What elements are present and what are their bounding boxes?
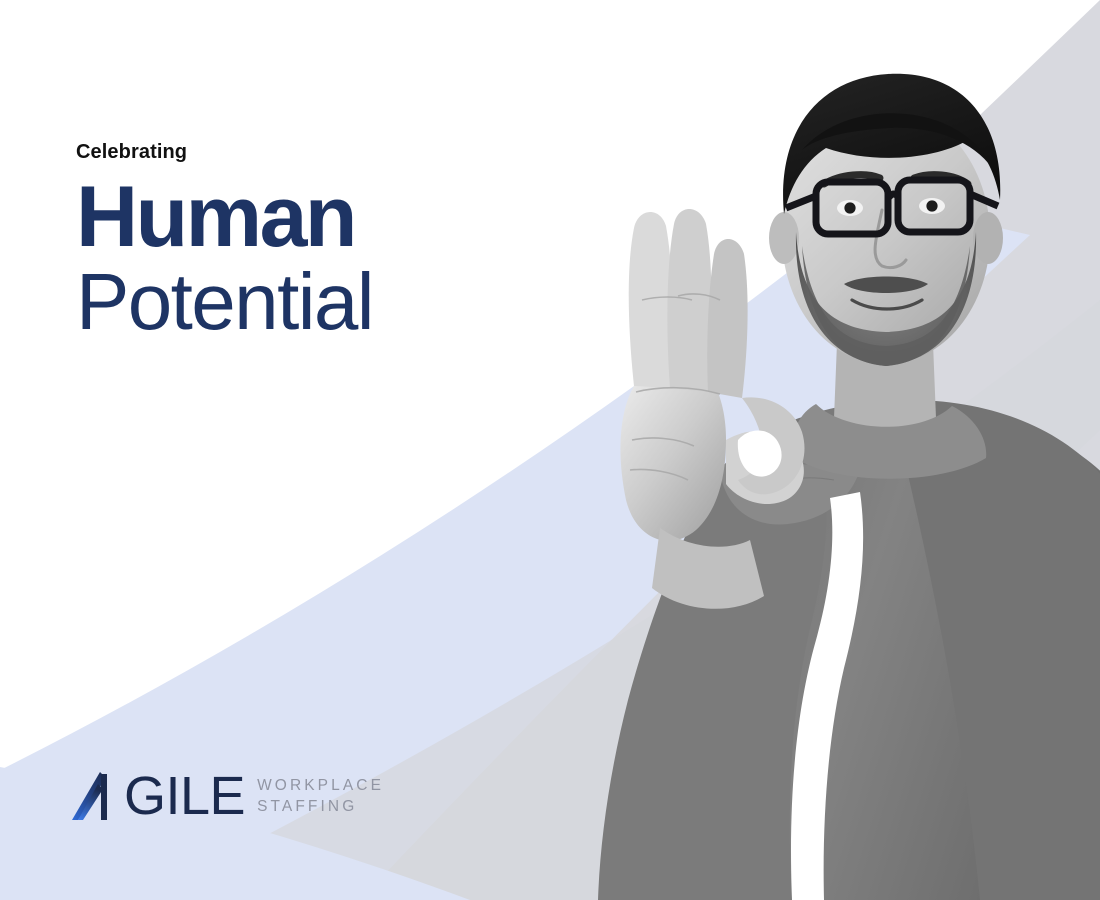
glasses-lens-right bbox=[898, 180, 970, 232]
logo-wordmark: GILE bbox=[124, 769, 245, 823]
pupil-left bbox=[844, 202, 855, 213]
neck bbox=[834, 318, 936, 430]
logo-tagline-line2: STAFFING bbox=[257, 796, 384, 817]
glasses bbox=[786, 180, 998, 234]
sleeve-cuff bbox=[720, 435, 860, 524]
mustache bbox=[844, 277, 928, 294]
ear-right bbox=[973, 212, 1003, 264]
mouth bbox=[852, 300, 922, 309]
finger-middle bbox=[667, 209, 711, 392]
ear-left bbox=[769, 212, 799, 264]
logo-mark-wrap bbox=[70, 768, 126, 824]
finger-ring bbox=[707, 239, 747, 398]
hand-palm bbox=[620, 359, 726, 541]
headline-block: Celebrating Human Potential bbox=[76, 140, 373, 342]
sweatshirt-collar bbox=[792, 404, 987, 479]
background-shapes bbox=[0, 0, 1100, 900]
hand-crease-lines bbox=[630, 294, 720, 480]
finger-pinky bbox=[738, 397, 804, 494]
poster-canvas: Celebrating Human Potential bbox=[0, 0, 1100, 900]
nose bbox=[875, 210, 906, 268]
headline-eyebrow: Celebrating bbox=[76, 140, 373, 164]
glasses-temple-left bbox=[786, 196, 816, 208]
brand-logo[interactable]: GILE WORKPLACE STAFFING bbox=[70, 768, 384, 824]
thumb bbox=[726, 431, 804, 504]
arm-torso-gap bbox=[791, 492, 863, 900]
logo-tagline: WORKPLACE STAFFING bbox=[257, 775, 384, 818]
agile-chevron-mark-icon bbox=[70, 768, 126, 824]
finger-index bbox=[629, 212, 673, 388]
logo-tagline-line1: WORKPLACE bbox=[257, 775, 384, 796]
headline-line-strong: Human bbox=[76, 176, 373, 259]
wrist bbox=[652, 528, 764, 609]
hair-fringe bbox=[802, 113, 992, 168]
background-base bbox=[0, 0, 1100, 900]
ok-circle-hole bbox=[738, 430, 782, 476]
subject-photo-illustration bbox=[420, 0, 1100, 900]
gray-diagonal-wedge bbox=[120, 0, 1100, 900]
sweatshirt-torso bbox=[720, 400, 1100, 900]
headline-line-light: Potential bbox=[76, 261, 373, 343]
chevron-outer-stroke bbox=[72, 772, 106, 820]
subject-photo bbox=[420, 0, 1100, 900]
glasses-temple-right bbox=[970, 194, 998, 206]
eyebrow-right bbox=[914, 175, 968, 184]
chevron-upright bbox=[101, 774, 107, 820]
face bbox=[782, 108, 990, 364]
glasses-lens-left bbox=[816, 182, 888, 234]
eyebrow-left bbox=[824, 175, 880, 184]
beard bbox=[796, 232, 976, 366]
hair bbox=[783, 74, 1000, 214]
ok-hand-gesture bbox=[620, 209, 804, 609]
pupil-right bbox=[926, 200, 937, 211]
beard-fill bbox=[802, 246, 970, 366]
cuff-rib-lines bbox=[732, 438, 834, 500]
glasses-bridge bbox=[888, 194, 898, 198]
eye-right bbox=[919, 198, 945, 214]
sweatshirt-raised-sleeve bbox=[598, 470, 826, 900]
sweatshirt-right-shoulder bbox=[890, 400, 1100, 900]
eye-left bbox=[837, 200, 863, 216]
